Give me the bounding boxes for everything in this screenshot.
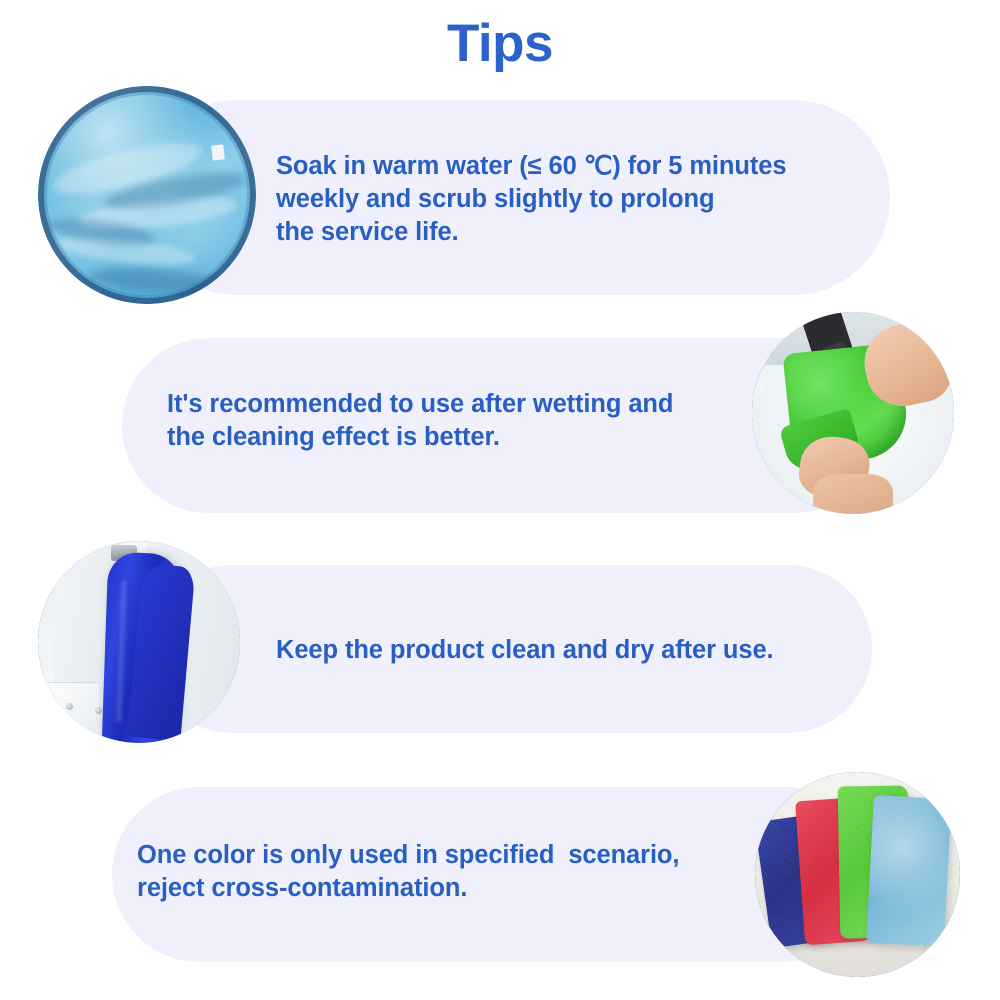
screw-head <box>66 703 73 710</box>
towel-texture <box>866 795 952 946</box>
hook-photo-inner <box>38 541 240 743</box>
light-blue-microfiber-towel-photo <box>38 86 256 304</box>
four-colored-towels-stack-photo <box>755 772 960 977</box>
towels-photo-inner <box>755 772 960 977</box>
tip-text-4: One color is only used in specified scen… <box>137 839 757 905</box>
blue-towel-hanging-on-hook-photo <box>38 541 240 743</box>
towel-photo-inner-1 <box>38 86 256 304</box>
sink-photo-inner <box>752 312 954 514</box>
tip-text-1: Soak in warm water (≤ 60 ℃) for 5 minute… <box>276 150 876 249</box>
cabinet-edge <box>38 682 99 743</box>
page-title: Tips <box>0 16 1000 72</box>
tips-infographic: Tips Soak in warm water (≤ 60 ℃) for 5 m… <box>0 0 1000 1000</box>
light-blue-towel <box>866 795 952 946</box>
tip-text-3: Keep the product clean and dry after use… <box>276 634 876 667</box>
tip-text-2: It's recommended to use after wetting an… <box>167 388 757 454</box>
left-forearm <box>813 474 894 514</box>
towel-photo-rim <box>38 86 256 304</box>
hands-wetting-green-towel-photo <box>752 312 954 514</box>
screw-head <box>95 707 102 714</box>
